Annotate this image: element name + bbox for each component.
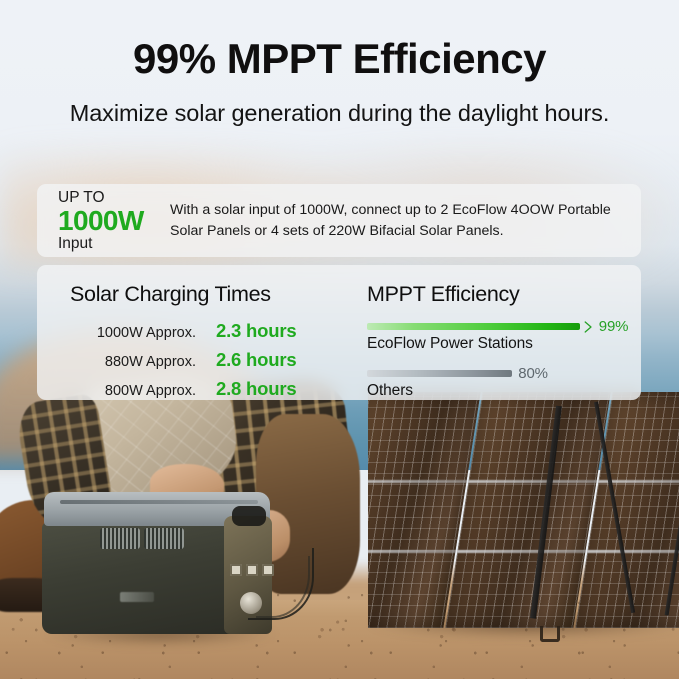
charging-time-value: 2.8 hours xyxy=(216,378,296,400)
efficiency-bar-fill-others xyxy=(367,370,512,377)
panel-busbar xyxy=(457,550,585,553)
solar-panel-array xyxy=(368,392,679,632)
efficiency-bar-line: 80% xyxy=(367,367,628,379)
product-infographic: 99% MPPT Efficiency Maximize solar gener… xyxy=(0,0,679,679)
panel-busbar xyxy=(587,550,679,553)
up-to-value-block: UP TO 1000W Input xyxy=(37,190,170,252)
panel-busbar xyxy=(368,550,456,553)
solar-input-card: UP TO 1000W Input With a solar input of … xyxy=(37,184,641,257)
charging-times-title: Solar Charging Times xyxy=(70,282,367,307)
efficiency-bar-fill-ecoflow xyxy=(367,323,580,330)
mppt-efficiency-panel: MPPT Efficiency 99% EcoFlow Power Statio… xyxy=(367,265,646,400)
charging-time-label: 880W Approx. xyxy=(70,354,196,370)
ac-outlet xyxy=(230,564,242,576)
station-handle xyxy=(232,506,266,526)
efficiency-percent-ecoflow: 99% xyxy=(599,318,628,335)
portable-power-station xyxy=(42,492,272,640)
solar-input-description: With a solar input of 1000W, connect up … xyxy=(170,200,641,241)
efficiency-caption-ecoflow: EcoFlow Power Stations xyxy=(367,335,628,353)
chevron-right-icon xyxy=(584,320,593,332)
panel-ground-stake xyxy=(540,626,560,642)
charging-time-row: 1000W Approx. 2.3 hours xyxy=(70,320,367,342)
panel-busbar xyxy=(468,480,596,483)
up-to-label: UP TO xyxy=(58,190,170,206)
charging-time-value: 2.3 hours xyxy=(216,320,296,342)
charging-time-value: 2.6 hours xyxy=(216,349,296,371)
efficiency-caption-others: Others xyxy=(367,382,628,400)
mppt-efficiency-title: MPPT Efficiency xyxy=(367,282,628,307)
charging-time-label: 800W Approx. xyxy=(70,383,196,399)
charging-time-row: 880W Approx. 2.6 hours xyxy=(70,349,367,371)
efficiency-bar-line: 99% xyxy=(367,320,628,332)
page-title: 99% MPPT Efficiency xyxy=(0,36,679,82)
charging-time-label: 1000W Approx. xyxy=(70,325,196,341)
station-vent xyxy=(100,528,140,549)
panel-busbar xyxy=(368,480,467,483)
headline-block: 99% MPPT Efficiency Maximize solar gener… xyxy=(0,36,679,129)
station-vent xyxy=(144,528,184,549)
charging-time-row: 800W Approx. 2.8 hours xyxy=(70,378,367,400)
max-input-value: 1000W xyxy=(58,207,170,235)
efficiency-percent-others: 80% xyxy=(518,365,547,382)
efficiency-bar-group-others: 80% Others xyxy=(367,367,628,400)
page-subtitle: Maximize solar generation during the day… xyxy=(0,98,679,129)
station-logo xyxy=(120,592,154,602)
station-seam xyxy=(60,500,258,504)
solar-charging-times-panel: Solar Charging Times 1000W Approx. 2.3 h… xyxy=(37,265,367,400)
input-unit-label: Input xyxy=(58,236,170,252)
stats-card: Solar Charging Times 1000W Approx. 2.3 h… xyxy=(37,265,641,400)
efficiency-bar-group-ecoflow: 99% EcoFlow Power Stations xyxy=(367,320,628,353)
